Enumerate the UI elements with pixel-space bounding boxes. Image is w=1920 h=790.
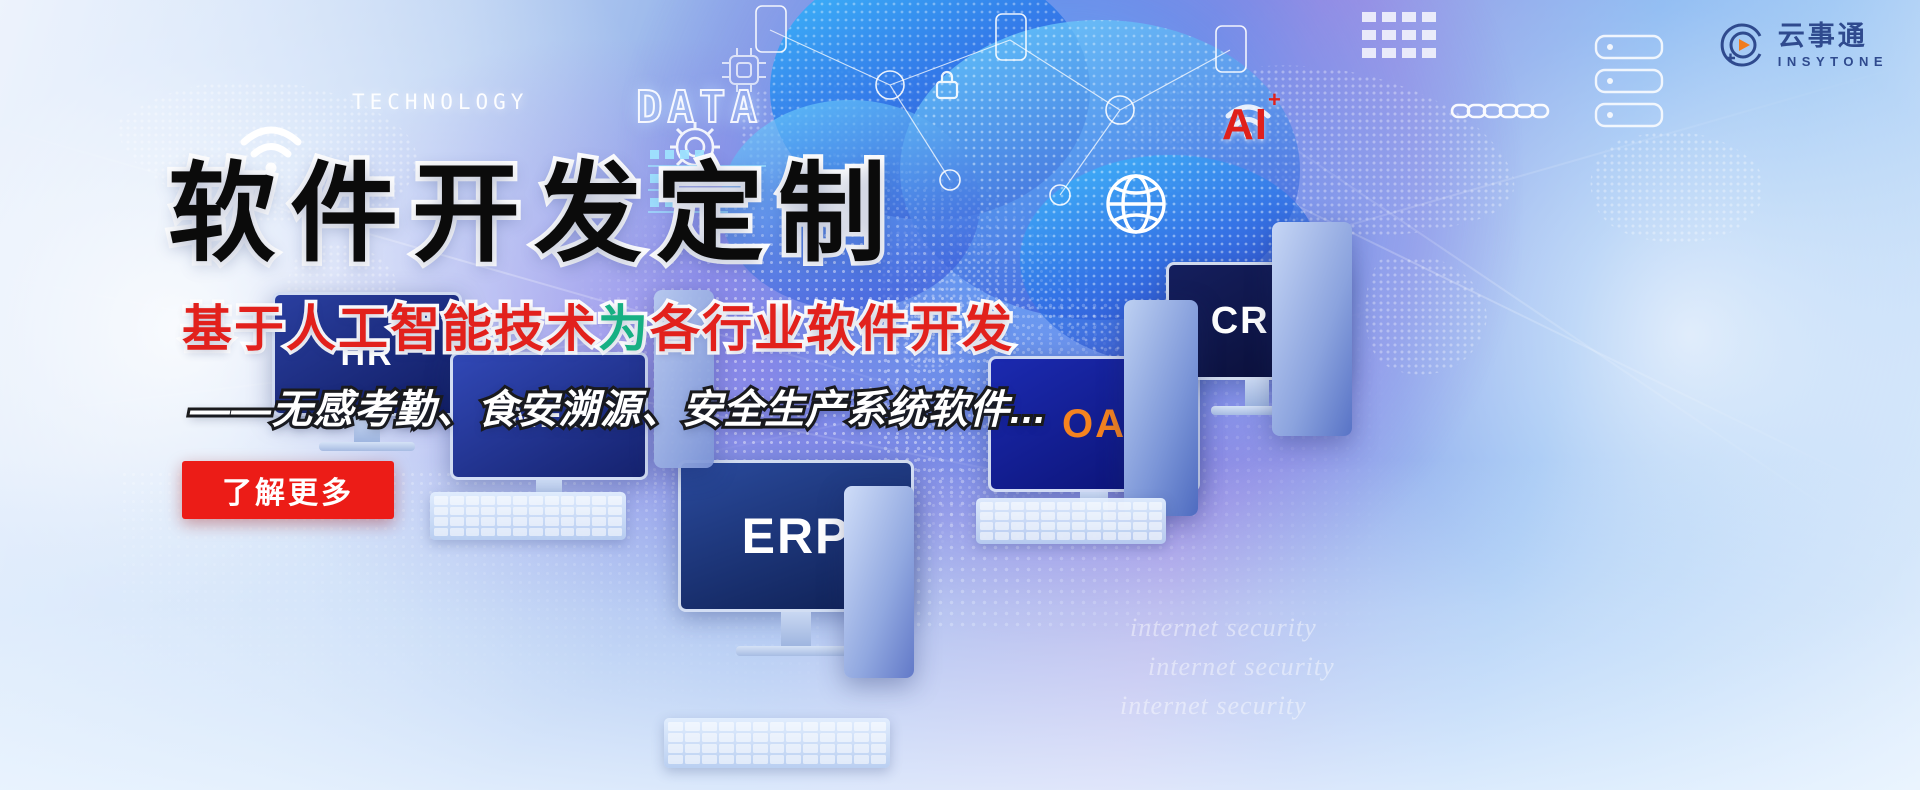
subheadline-part-3: 各行业软件开发: [650, 301, 1014, 357]
learn-more-button[interactable]: 了解更多: [182, 461, 394, 519]
page-title: 软件开发定制: [168, 158, 1168, 271]
logo-text-block: 云事通 INSYTONE: [1778, 23, 1888, 68]
subheadline-part-1: 基于人工智能技术: [182, 301, 598, 357]
logo-name-cn: 云事通: [1778, 23, 1888, 50]
promo-banner: HR MES ERP OA CRM: [0, 0, 1920, 790]
brand-logo[interactable]: 云事通 INSYTONE: [1720, 22, 1888, 68]
logo-name-en: INSYTONE: [1778, 55, 1888, 68]
tagline: ——无感考勤、食安溯源、安全生产系统软件...: [190, 377, 1168, 435]
subheadline: 基于人工智能技术为各行业软件开发: [182, 289, 1168, 361]
copy-block: 软件开发定制 基于人工智能技术为各行业软件开发 ——无感考勤、食安溯源、安全生产…: [168, 158, 1168, 519]
subheadline-part-2: 为: [598, 301, 650, 357]
play-circle-icon: [1720, 22, 1766, 68]
